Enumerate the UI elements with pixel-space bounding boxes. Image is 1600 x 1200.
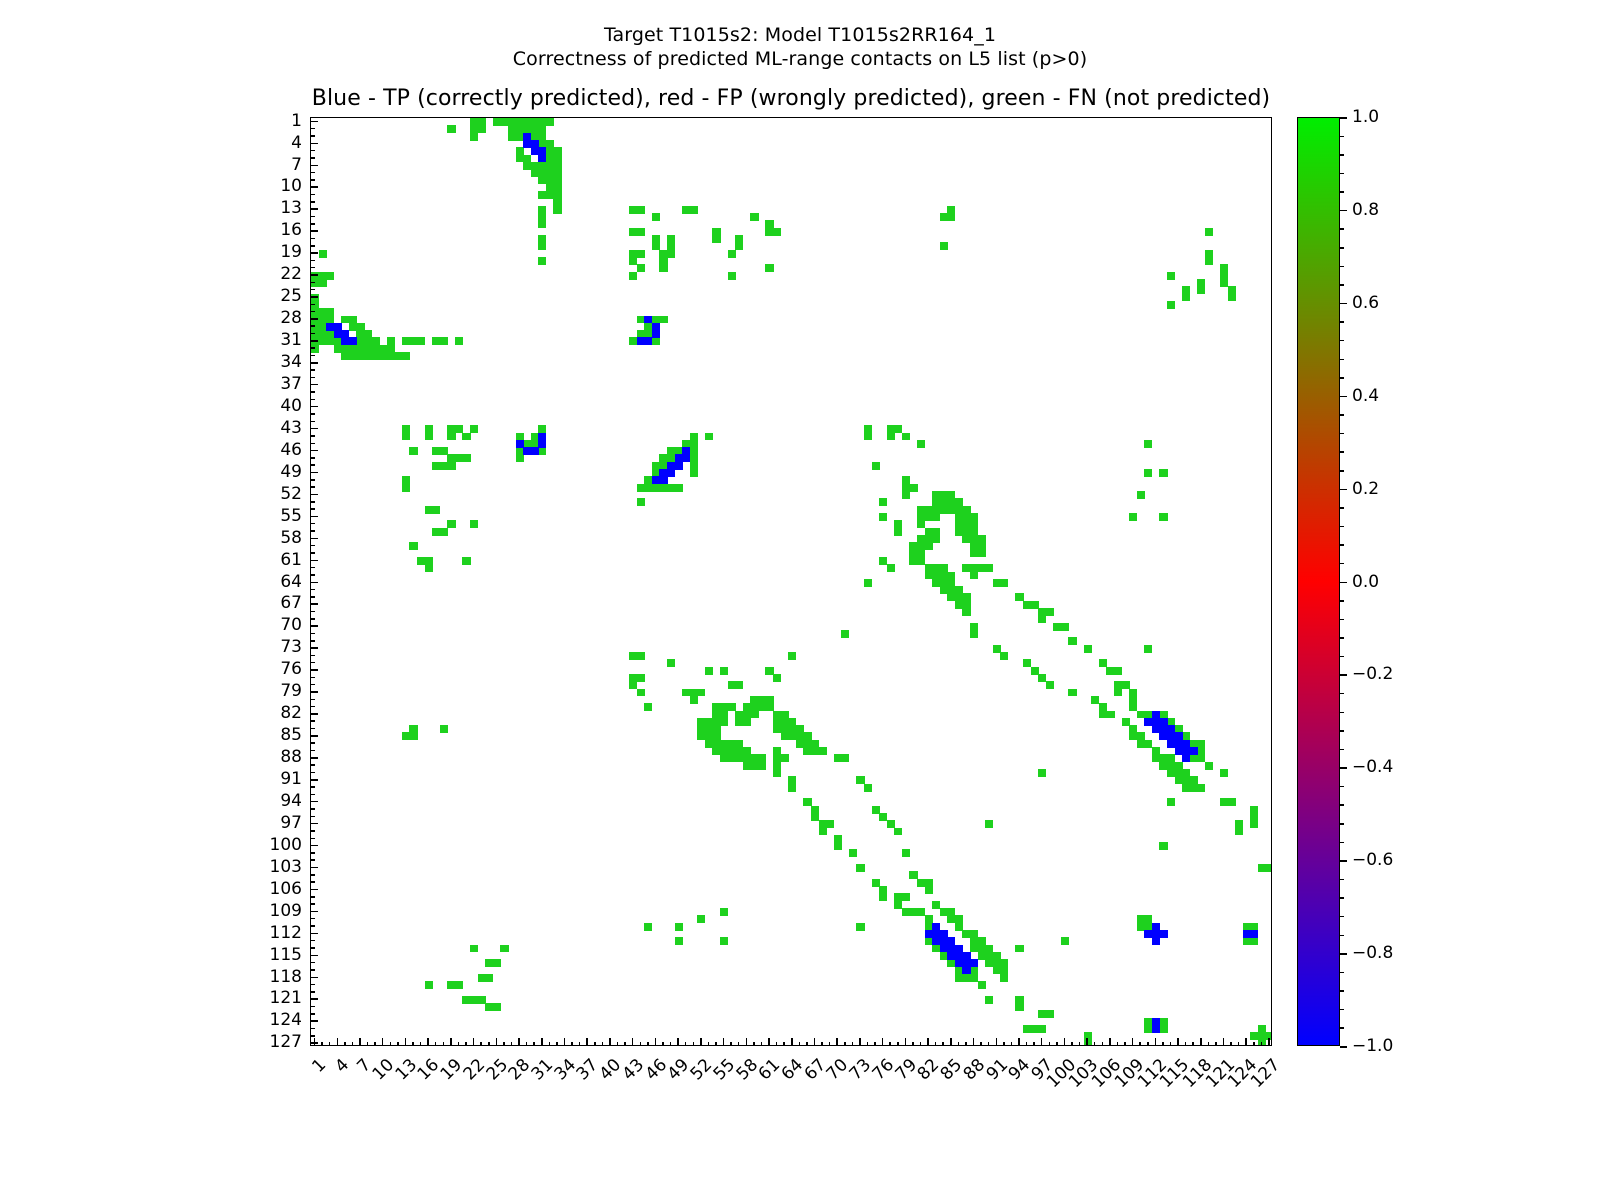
y-axis-minor-tick <box>310 808 315 810</box>
contact-cell-fn <box>705 433 713 441</box>
y-axis-minor-tick <box>310 508 315 510</box>
x-axis-major-tick <box>791 1038 793 1046</box>
y-axis-minor-tick <box>310 135 315 137</box>
contact-cell-fn <box>864 579 872 587</box>
contact-cell-tp <box>1152 937 1160 945</box>
y-axis-minor-tick <box>310 662 315 664</box>
contact-cell-fn <box>909 484 917 492</box>
contact-cell-fn <box>856 864 864 872</box>
contact-cell-fn <box>962 564 970 572</box>
contact-cell-tp <box>644 337 652 345</box>
x-axis-major-tick <box>564 1038 566 1046</box>
y-axis-minor-tick <box>310 369 315 371</box>
contact-cell-fn <box>1228 798 1236 806</box>
contact-cell-fn <box>909 908 917 916</box>
contact-cell-fn <box>538 220 546 228</box>
contact-cell-fn <box>1038 615 1046 623</box>
y-axis-major-tick <box>310 274 318 276</box>
x-axis-major-tick <box>1155 1038 1157 1046</box>
contact-cell-tp <box>1190 747 1198 755</box>
y-axis-tick-label: 28 <box>250 308 302 328</box>
x-axis-major-tick <box>1018 1038 1020 1046</box>
colorbar-tick-label: 0.4 <box>1352 386 1379 406</box>
contact-cell-fn <box>773 674 781 682</box>
colorbar-major-tick <box>1340 489 1347 491</box>
figure-suptitle-line2: Correctness of predicted ML-range contac… <box>0 46 1600 72</box>
contact-cell-fn <box>440 447 448 455</box>
contact-cell-fn <box>637 206 645 214</box>
contact-cell-fn <box>470 520 478 528</box>
contact-cell-fn <box>478 118 486 126</box>
contact-cell-fn <box>462 433 470 441</box>
colorbar-minor-tick <box>1340 823 1344 825</box>
contact-cell-fn <box>667 659 675 667</box>
contact-cell-fn <box>902 849 910 857</box>
colorbar-minor-tick <box>1340 804 1344 806</box>
y-axis-major-tick <box>310 494 318 496</box>
x-axis-major-tick <box>496 1038 498 1046</box>
y-axis-major-tick <box>310 362 318 364</box>
y-axis-minor-tick <box>310 245 315 247</box>
colorbar-minor-tick <box>1340 266 1344 268</box>
contact-cell-fn <box>447 520 455 528</box>
contact-cell-fn <box>425 981 433 989</box>
y-axis-tick-label: 112 <box>250 923 302 943</box>
x-axis-minor-tick <box>1011 1042 1013 1047</box>
x-axis-major-tick <box>1041 1038 1043 1046</box>
x-axis-minor-tick <box>806 1042 808 1047</box>
x-axis-major-tick <box>609 1038 611 1046</box>
contact-map-plot[interactable] <box>310 117 1272 1046</box>
x-axis-major-tick <box>1245 1038 1247 1046</box>
x-axis-major-tick <box>337 1038 339 1046</box>
x-axis-minor-tick <box>761 1042 763 1047</box>
y-axis-major-tick <box>310 340 318 342</box>
x-axis-minor-tick <box>829 1042 831 1047</box>
colorbar-minor-tick <box>1340 842 1344 844</box>
colorbar-minor-tick <box>1340 749 1344 751</box>
colorbar-minor-tick <box>1340 321 1344 323</box>
x-axis-minor-tick <box>1147 1042 1149 1047</box>
contact-cell-fn <box>872 462 880 470</box>
contact-cell-fn <box>750 213 758 221</box>
contact-cell-fn <box>470 945 478 953</box>
contact-cell-fn <box>1228 294 1236 302</box>
y-axis-minor-tick <box>310 1028 315 1030</box>
y-axis-tick-label: 58 <box>250 528 302 548</box>
y-axis-minor-tick <box>310 852 315 854</box>
contact-cell-fn <box>773 769 781 777</box>
y-axis-minor-tick <box>310 325 315 327</box>
y-axis-minor-tick <box>310 552 315 554</box>
contact-cell-fn <box>970 630 978 638</box>
contact-cell-tp <box>637 337 645 345</box>
x-axis-minor-tick <box>1056 1042 1058 1047</box>
x-axis-minor-tick <box>980 1042 982 1047</box>
colorbar-minor-tick <box>1340 284 1344 286</box>
contact-cell-fn <box>659 316 667 324</box>
x-axis-minor-tick <box>821 1042 823 1047</box>
colorbar-minor-tick <box>1340 507 1344 509</box>
contact-cell-fn <box>728 250 736 258</box>
contact-cell-fn <box>720 667 728 675</box>
x-axis-minor-tick <box>1124 1042 1126 1047</box>
contact-cell-fn <box>675 484 683 492</box>
y-axis-major-tick <box>310 230 318 232</box>
x-axis-major-tick <box>1177 1038 1179 1046</box>
x-axis-minor-tick <box>329 1042 331 1047</box>
x-axis-minor-tick <box>374 1042 376 1047</box>
contact-cell-fn <box>485 974 493 982</box>
contact-cell-fn <box>1144 645 1152 653</box>
colorbar-minor-tick <box>1340 990 1344 992</box>
contact-cell-fn <box>750 711 758 719</box>
colorbar-minor-tick <box>1340 563 1344 565</box>
x-axis-minor-tick <box>889 1042 891 1047</box>
contact-cell-fn <box>849 849 857 857</box>
y-axis-tick-label: 79 <box>250 681 302 701</box>
colorbar-major-tick <box>1340 303 1347 305</box>
contact-cell-fn <box>447 433 455 441</box>
contact-cell-fn <box>1015 1003 1023 1011</box>
x-axis-minor-tick <box>852 1042 854 1047</box>
contact-cell-fn <box>402 352 410 360</box>
contact-cell-tp <box>667 469 675 477</box>
contact-cell-fn <box>538 447 546 455</box>
y-axis-tick-label: 103 <box>250 857 302 877</box>
colorbar[interactable] <box>1297 117 1340 1046</box>
x-axis-major-tick <box>541 1038 543 1046</box>
colorbar-major-tick <box>1340 396 1347 398</box>
contact-cell-fn <box>819 747 827 755</box>
colorbar-minor-tick <box>1340 972 1344 974</box>
contact-cell-fn <box>462 454 470 462</box>
x-axis-major-tick <box>814 1038 816 1046</box>
contact-cell-fn <box>402 433 410 441</box>
x-axis-major-tick <box>655 1038 657 1046</box>
y-axis-major-tick <box>310 889 318 891</box>
y-axis-minor-tick <box>310 223 315 225</box>
contact-cell-fn <box>970 572 978 580</box>
x-axis-minor-tick <box>1230 1042 1232 1047</box>
y-axis-major-tick <box>310 977 318 979</box>
contact-cell-fn <box>1258 864 1266 872</box>
y-axis-minor-tick <box>310 618 315 620</box>
colorbar-tick-label: −0.2 <box>1352 664 1393 684</box>
contact-cell-fn <box>864 784 872 792</box>
colorbar-minor-tick <box>1340 637 1344 639</box>
y-axis-minor-tick <box>310 830 315 832</box>
colorbar-minor-tick <box>1340 897 1344 899</box>
contact-cell-fn <box>902 433 910 441</box>
contact-cell-fn <box>637 484 645 492</box>
contact-cell-fn <box>425 564 433 572</box>
x-axis-minor-tick <box>1253 1042 1255 1047</box>
contact-cell-fn <box>652 213 660 221</box>
y-axis-minor-tick <box>310 896 315 898</box>
x-axis-major-tick <box>836 1038 838 1046</box>
contact-cell-fn <box>1068 689 1076 697</box>
y-axis-major-tick <box>310 801 318 803</box>
x-axis-minor-tick <box>867 1042 869 1047</box>
y-axis-major-tick <box>310 1020 318 1022</box>
contact-cell-fn <box>773 747 781 755</box>
contact-cell-fn <box>735 681 743 689</box>
colorbar-minor-tick <box>1340 451 1344 453</box>
y-axis-major-tick <box>310 603 318 605</box>
y-axis-minor-tick <box>310 150 315 152</box>
y-axis-major-tick <box>310 208 318 210</box>
contact-cell-fn <box>1159 842 1167 850</box>
x-axis-major-tick <box>450 1038 452 1046</box>
x-axis-minor-tick <box>670 1042 672 1047</box>
y-axis-minor-tick <box>310 201 315 203</box>
contact-cell-fn <box>788 652 796 660</box>
contact-cell-fn <box>1167 798 1175 806</box>
y-axis-minor-tick <box>310 413 315 415</box>
y-axis-major-tick <box>310 757 318 759</box>
contact-cell-fn <box>1061 623 1069 631</box>
contact-cell-fn <box>894 828 902 836</box>
contact-cell-fn <box>432 506 440 514</box>
contact-cell-fn <box>735 242 743 250</box>
colorbar-major-tick <box>1340 860 1347 862</box>
y-axis-minor-tick <box>310 684 315 686</box>
colorbar-major-tick <box>1340 582 1347 584</box>
y-axis-tick-label: 115 <box>250 945 302 965</box>
x-axis-minor-tick <box>1094 1042 1096 1047</box>
y-axis-minor-tick <box>310 859 315 861</box>
x-axis-major-tick <box>700 1038 702 1046</box>
y-axis-minor-tick <box>310 179 315 181</box>
y-axis-tick-label: 37 <box>250 374 302 394</box>
contact-cell-fn <box>1114 667 1122 675</box>
contact-cell-fn <box>894 528 902 536</box>
colorbar-minor-tick <box>1340 414 1344 416</box>
colorbar-minor-tick <box>1340 935 1344 937</box>
contact-cell-fn <box>319 250 327 258</box>
y-axis-minor-tick <box>310 172 315 174</box>
y-axis-major-tick <box>310 1042 318 1044</box>
contact-cell-tp <box>1152 1025 1160 1033</box>
y-axis-tick-label: 16 <box>250 220 302 240</box>
x-axis-minor-tick <box>942 1042 944 1047</box>
y-axis-minor-tick <box>310 530 315 532</box>
y-axis-minor-tick <box>310 1006 315 1008</box>
contact-cell-fn <box>417 337 425 345</box>
x-axis-minor-tick <box>988 1042 990 1047</box>
y-axis-major-tick <box>310 735 318 737</box>
y-axis-minor-tick <box>310 1035 315 1037</box>
y-axis-minor-tick <box>310 377 315 379</box>
x-axis-minor-tick <box>602 1042 604 1047</box>
y-axis-tick-label: 46 <box>250 440 302 460</box>
x-axis-major-tick <box>427 1038 429 1046</box>
y-axis-minor-tick <box>310 881 315 883</box>
x-axis-minor-tick <box>503 1042 505 1047</box>
x-axis-major-tick <box>1268 1038 1270 1046</box>
x-axis-minor-tick <box>1261 1042 1263 1047</box>
x-axis-major-tick <box>473 1038 475 1046</box>
contact-cell-fn <box>1015 945 1023 953</box>
x-axis-minor-tick <box>753 1042 755 1047</box>
y-axis-major-tick <box>310 669 318 671</box>
colorbar-gradient <box>1298 118 1339 1045</box>
y-axis-minor-tick <box>310 962 315 964</box>
y-axis-tick-label: 124 <box>250 1010 302 1030</box>
contact-cell-fn <box>1114 689 1122 697</box>
colorbar-major-tick <box>1340 1046 1347 1048</box>
contact-cell-fn <box>455 337 463 345</box>
contact-cell-fn <box>553 206 561 214</box>
contact-cell-fn <box>697 915 705 923</box>
contact-cell-fn <box>1197 784 1205 792</box>
contact-cell-fn <box>1129 696 1137 704</box>
x-axis-minor-tick <box>367 1042 369 1047</box>
x-axis-minor-tick <box>352 1042 354 1047</box>
y-axis-major-tick <box>310 560 318 562</box>
y-axis-major-tick <box>310 713 318 715</box>
contact-cell-fn <box>493 959 501 967</box>
contact-cell-fn <box>470 425 478 433</box>
x-axis-major-tick <box>950 1038 952 1046</box>
colorbar-minor-tick <box>1340 154 1344 156</box>
x-axis-minor-tick <box>1185 1042 1187 1047</box>
y-axis-major-tick <box>310 472 318 474</box>
y-axis-tick-label: 19 <box>250 242 302 262</box>
contact-cell-fn <box>985 820 993 828</box>
contact-cell-fn <box>728 272 736 280</box>
contact-cell-fn <box>879 498 887 506</box>
x-axis-major-tick <box>927 1038 929 1046</box>
contact-cell-fn <box>856 923 864 931</box>
y-axis-minor-tick <box>310 216 315 218</box>
contact-cell-fn <box>629 272 637 280</box>
y-axis-minor-tick <box>310 347 315 349</box>
contact-cell-fn <box>1106 711 1114 719</box>
contact-cell-fn <box>690 433 698 441</box>
y-axis-minor-tick <box>310 750 315 752</box>
contact-cell-fn <box>978 981 986 989</box>
contact-cell-fn <box>447 462 455 470</box>
y-axis-tick-label: 127 <box>250 1032 302 1052</box>
contact-cell-fn <box>409 542 417 550</box>
contact-cell-fn <box>402 484 410 492</box>
x-axis-minor-tick <box>390 1042 392 1047</box>
contact-cell-fn <box>364 337 372 345</box>
contact-cell-fn <box>940 242 948 250</box>
contact-cell-fn <box>1250 820 1258 828</box>
y-axis-minor-tick <box>310 838 315 840</box>
colorbar-minor-tick <box>1340 656 1344 658</box>
contact-cell-fn <box>538 242 546 250</box>
x-axis-minor-tick <box>556 1042 558 1047</box>
y-axis-minor-tick <box>310 157 315 159</box>
contact-cell-fn <box>478 125 486 133</box>
x-axis-minor-tick <box>844 1042 846 1047</box>
contact-cell-fn <box>1000 579 1008 587</box>
y-axis-minor-tick <box>310 940 315 942</box>
y-axis-tick-label: 40 <box>250 396 302 416</box>
contact-cell-fn <box>455 454 463 462</box>
x-axis-minor-tick <box>783 1042 785 1047</box>
x-axis-minor-tick <box>1003 1042 1005 1047</box>
colorbar-minor-tick <box>1340 619 1344 621</box>
x-axis-minor-tick <box>571 1042 573 1047</box>
contact-cell-fn <box>697 689 705 697</box>
contact-cell-fn <box>925 542 933 550</box>
colorbar-major-tick <box>1340 210 1347 212</box>
y-axis-major-tick <box>310 428 318 430</box>
colorbar-minor-tick <box>1340 433 1344 435</box>
y-axis-tick-label: 100 <box>250 835 302 855</box>
colorbar-minor-tick <box>1340 693 1344 695</box>
contact-cell-fn <box>1220 769 1228 777</box>
y-axis-major-tick <box>310 165 318 167</box>
contact-cell-fn <box>470 133 478 141</box>
y-axis-major-tick <box>310 384 318 386</box>
x-axis-minor-tick <box>594 1042 596 1047</box>
y-axis-tick-label: 49 <box>250 462 302 482</box>
contact-cell-tp <box>675 462 683 470</box>
contact-cell-fn <box>644 923 652 931</box>
y-axis-tick-label: 52 <box>250 484 302 504</box>
x-axis-minor-tick <box>465 1042 467 1047</box>
x-axis-minor-tick <box>1033 1042 1035 1047</box>
colorbar-minor-tick <box>1340 879 1344 881</box>
contact-cell-fn <box>637 689 645 697</box>
x-axis-major-tick <box>382 1038 384 1046</box>
y-axis-minor-tick <box>310 399 315 401</box>
x-axis-minor-tick <box>480 1042 482 1047</box>
y-axis-minor-tick <box>310 772 315 774</box>
x-axis-minor-tick <box>549 1042 551 1047</box>
contact-cell-fn <box>1250 937 1258 945</box>
y-axis-minor-tick <box>310 706 315 708</box>
colorbar-tick-label: −1.0 <box>1352 1036 1393 1056</box>
colorbar-minor-tick <box>1340 544 1344 546</box>
y-axis-minor-tick <box>310 903 315 905</box>
y-axis-tick-label: 1 <box>250 111 302 131</box>
contact-cell-fn <box>1167 272 1175 280</box>
x-axis-minor-tick <box>647 1042 649 1047</box>
y-axis-minor-tick <box>310 816 315 818</box>
contact-cell-fn <box>447 125 455 133</box>
x-axis-minor-tick <box>617 1042 619 1047</box>
y-axis-minor-tick <box>310 925 315 927</box>
x-axis-minor-tick <box>1170 1042 1172 1047</box>
x-axis-minor-tick <box>1026 1042 1028 1047</box>
colorbar-tick-label: −0.8 <box>1352 943 1393 963</box>
y-axis-minor-tick <box>310 699 315 701</box>
y-axis-minor-tick <box>310 969 315 971</box>
contact-cell-fn <box>705 667 713 675</box>
y-axis-tick-label: 85 <box>250 725 302 745</box>
x-axis-minor-tick <box>1117 1042 1119 1047</box>
x-axis-major-tick <box>677 1038 679 1046</box>
contact-cell-fn <box>440 337 448 345</box>
contact-cell-fn <box>326 308 334 316</box>
y-axis-tick-label: 97 <box>250 813 302 833</box>
y-axis-tick-label: 91 <box>250 769 302 789</box>
x-axis-minor-tick <box>776 1042 778 1047</box>
contact-cell-tp <box>652 330 660 338</box>
x-axis-minor-tick <box>420 1042 422 1047</box>
y-axis-tick-label: 61 <box>250 550 302 570</box>
y-axis-minor-tick <box>310 764 315 766</box>
y-axis-major-tick <box>310 845 318 847</box>
colorbar-tick-label: 0.6 <box>1352 293 1379 313</box>
